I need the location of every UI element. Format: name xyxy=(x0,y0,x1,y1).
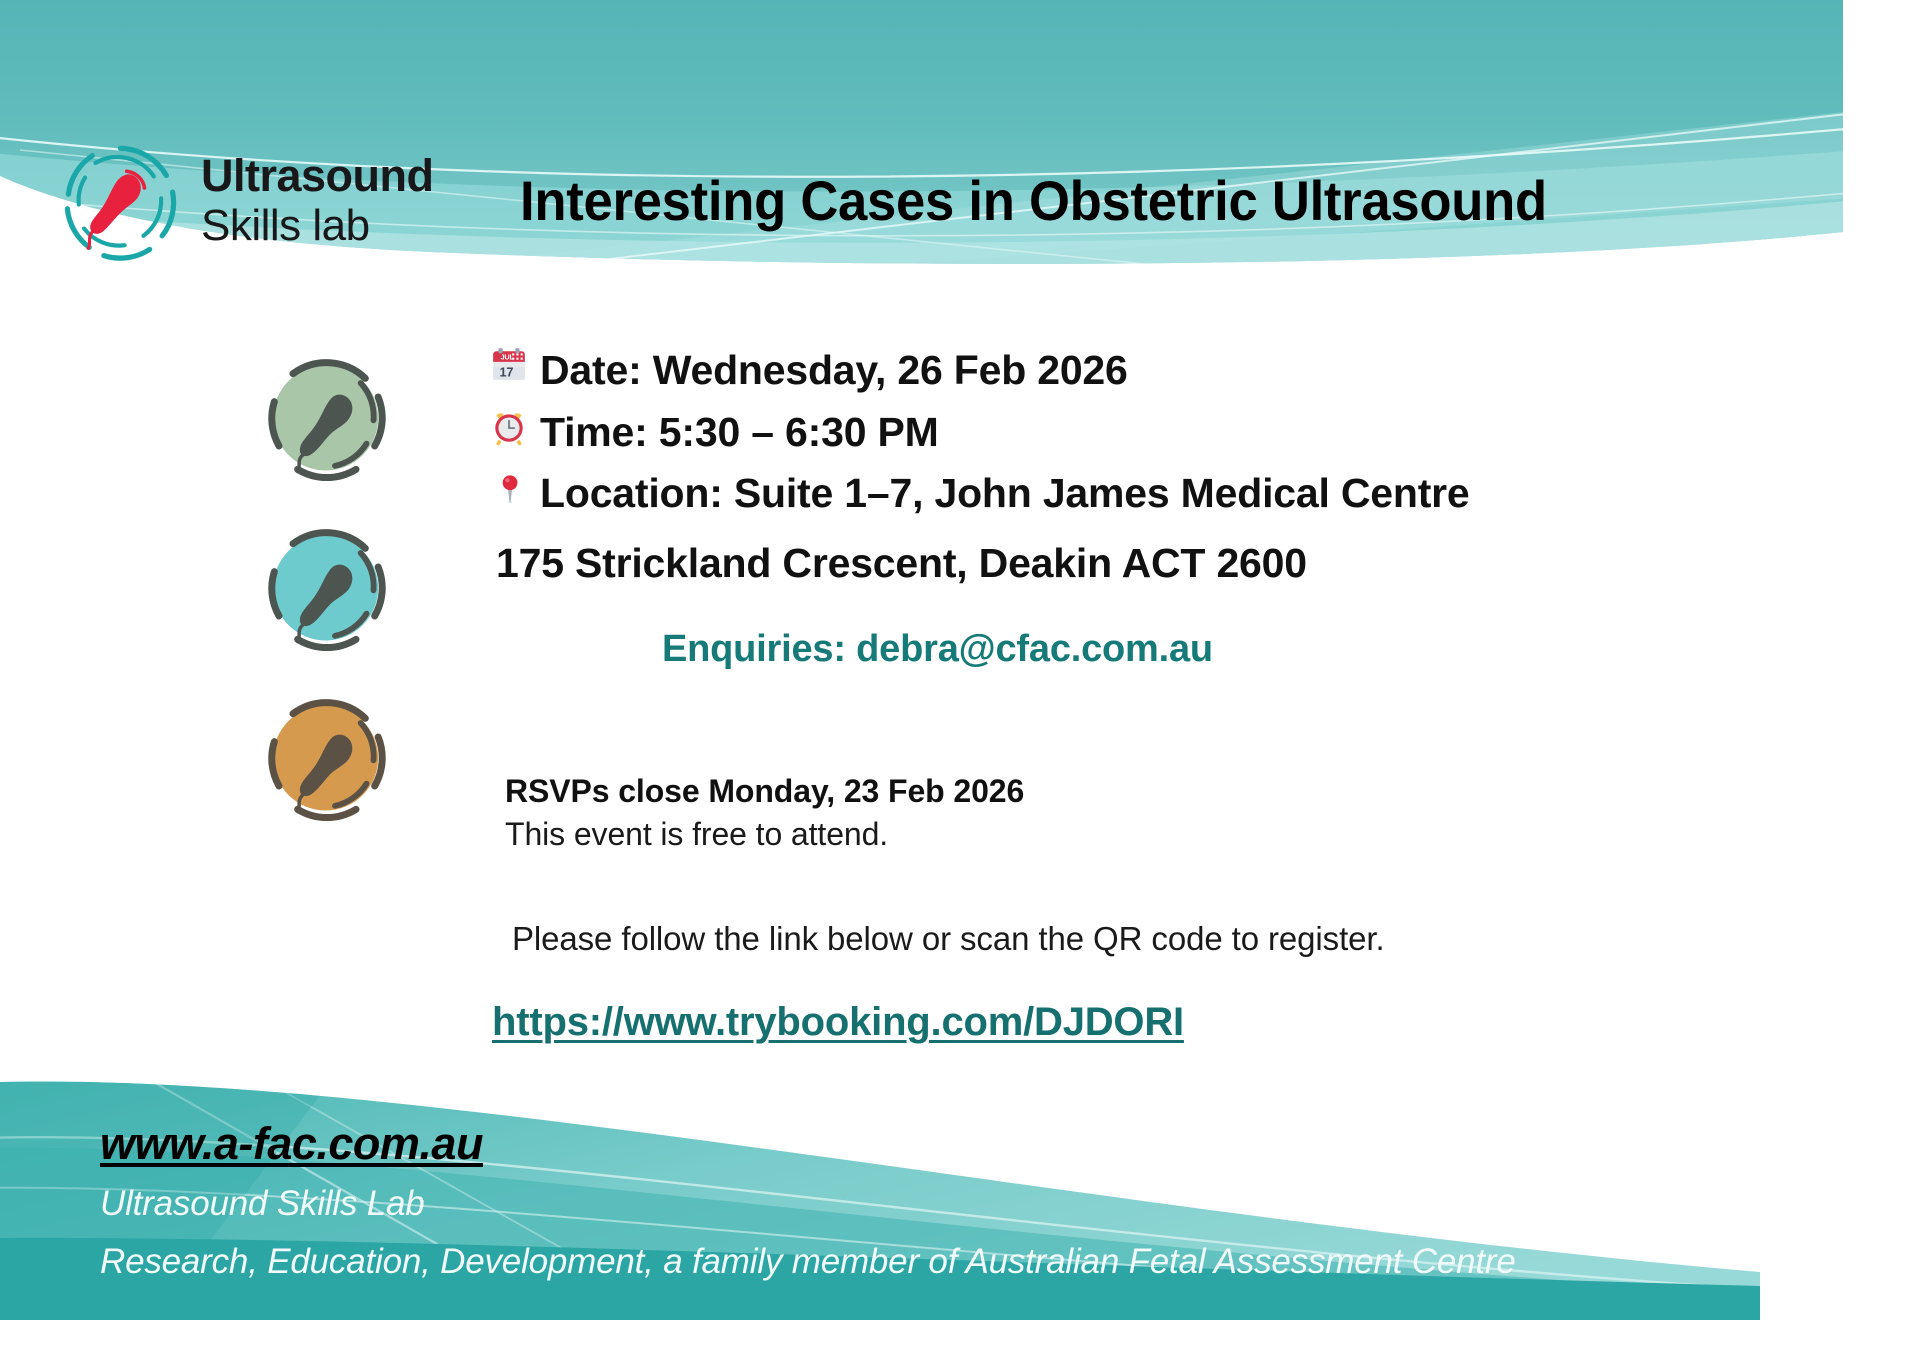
enquiries-line[interactable]: Enquiries: debra@cfac.com.au xyxy=(490,594,1670,671)
ultrasound-probe-circle-icon xyxy=(58,140,183,265)
detail-text-location: Location: Suite 1–7, John James Medical … xyxy=(540,463,1470,525)
probe-badge-amber xyxy=(258,688,398,828)
map-pin-icon xyxy=(490,469,528,507)
rsvp-block: RSVPs close Monday, 23 Feb 2026 This eve… xyxy=(505,770,1705,856)
footer-subtitle-2: Research, Education, Development, a fami… xyxy=(100,1242,1800,1282)
footer-subtitle-1: Ultrasound Skills Lab xyxy=(100,1184,1800,1224)
footer-text: www.a-fac.com.au Ultrasound Skills Lab R… xyxy=(100,1118,1800,1282)
rsvp-free-note: This event is free to attend. xyxy=(505,813,1705,856)
detail-text-time: Time: 5:30 – 6:30 PM xyxy=(540,402,939,464)
register-instruction: Please follow the link below or scan the… xyxy=(512,920,1385,958)
brand-name-line2: Skills lab xyxy=(201,204,434,248)
footer-website-link[interactable]: www.a-fac.com.au xyxy=(100,1118,483,1170)
brand-logo: Ultrasound Skills lab xyxy=(58,140,478,265)
detail-row-date: JUL 17 Date: Wednesday, 26 Feb 2026 xyxy=(490,340,1670,402)
probe-badge-column xyxy=(258,348,408,858)
probe-badge-teal xyxy=(258,518,398,658)
registration-link[interactable]: https://www.trybooking.com/DJDORI xyxy=(492,1000,1184,1045)
detail-row-time: Time: 5:30 – 6:30 PM xyxy=(490,402,1670,464)
detail-text-date: Date: Wednesday, 26 Feb 2026 xyxy=(540,340,1128,402)
probe-glyph xyxy=(90,174,141,234)
brand-name-line1: Ultrasound xyxy=(201,153,434,198)
event-details: JUL 17 Date: Wednesday, 26 Feb 2026 xyxy=(490,340,1670,671)
svg-text:17: 17 xyxy=(500,366,514,380)
probe-badge-green xyxy=(258,348,398,488)
alarm-clock-icon xyxy=(490,408,528,446)
detail-row-location: Location: Suite 1–7, John James Medical … xyxy=(490,463,1670,525)
poster-title: Interesting Cases in Obstetric Ultrasoun… xyxy=(520,172,1742,231)
calendar-icon: JUL 17 xyxy=(490,346,528,384)
detail-address: 175 Strickland Crescent, Deakin ACT 2600 xyxy=(490,525,1670,595)
rsvp-close-date: RSVPs close Monday, 23 Feb 2026 xyxy=(505,770,1705,813)
